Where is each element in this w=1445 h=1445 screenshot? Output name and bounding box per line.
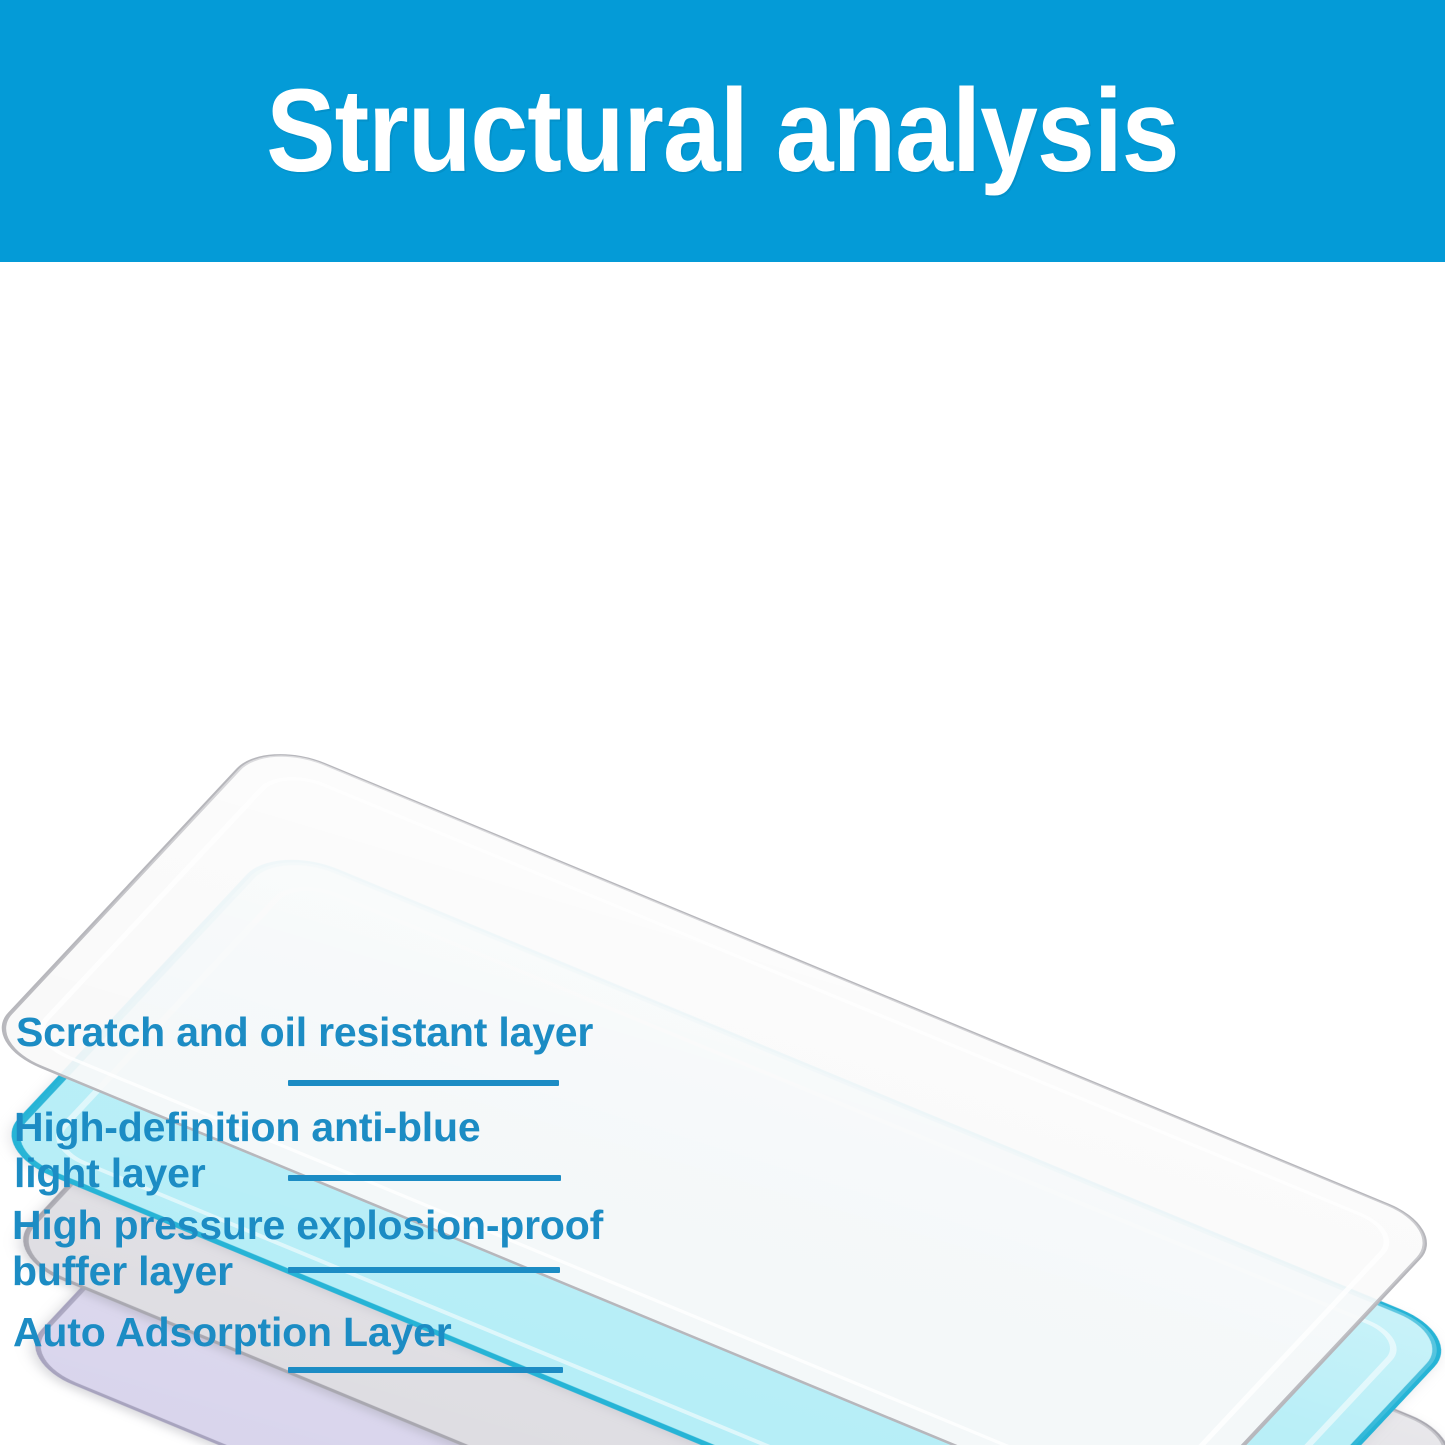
callout-label-buffer: High pressure explosion-proof buffer lay… <box>12 1203 612 1295</box>
layer-stack-diagram: Scratch and oil resistant layer High-def… <box>0 262 1445 1445</box>
page-title: Structural analysis <box>266 72 1178 190</box>
leader-line-scratch-oil <box>288 1080 559 1086</box>
product-infographic-page: Structural analysis <box>0 0 1445 1445</box>
callout-label-scratch-oil: Scratch and oil resistant layer <box>16 1010 616 1056</box>
header-band: Structural analysis <box>0 0 1445 262</box>
callout-label-anti-blue: High-definition anti-blue light layer <box>14 1105 534 1197</box>
leader-line-auto-adsorption <box>288 1367 563 1373</box>
callout-label-auto-adsorption: Auto Adsorption Layer <box>13 1310 613 1356</box>
